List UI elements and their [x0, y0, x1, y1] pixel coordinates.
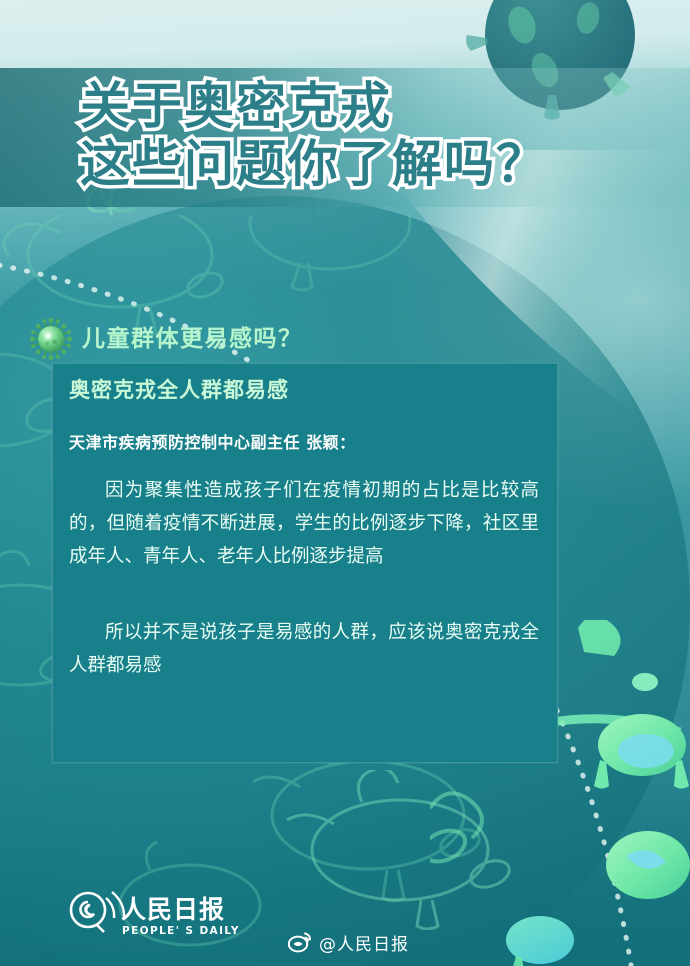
bottom-virus-outline-icon — [250, 770, 550, 930]
logo-name-en: PEOPLE' S DAILY — [122, 925, 240, 937]
card-subtitle: 奥密克戎全人群都易感 — [69, 374, 289, 404]
section-heading: 儿童群体更易感吗？ — [30, 316, 530, 364]
weibo-icon — [288, 931, 312, 953]
weibo-credit: @人民日报 — [288, 929, 409, 955]
card-paragraph: 所以并不是说孩子是易感的人群，应该说奥密克戎全人群都易感 — [69, 616, 539, 682]
poster-title: 关于奥密克戎 这些问题你了解吗？ — [0, 68, 690, 207]
content-card: 奥密克戎全人群都易感 天津市疾病预防控制中心副主任 张颖： 因为聚集性造成孩子们… — [52, 363, 558, 763]
logo-name-cn: 人民日报 — [121, 895, 225, 924]
weibo-handle: @人民日报 — [319, 930, 409, 955]
card-paragraph: 因为聚集性造成孩子们在疫情初期的占比是比较高的，但随着疫情不断进展，学生的比例逐… — [69, 474, 539, 573]
title-line-2: 这些问题你了解吗？ — [80, 124, 548, 196]
virus-icon — [30, 318, 72, 360]
card-byline: 天津市疾病预防控制中心副主任 张颖： — [69, 429, 356, 453]
section-heading-label: 儿童群体更易感吗？ — [82, 319, 303, 353]
peoples-daily-logo: 人民日报 PEOPLE' S DAILY — [66, 884, 246, 940]
poster-canvas: 关于奥密克戎 这些问题你了解吗？ — [0, 0, 690, 966]
